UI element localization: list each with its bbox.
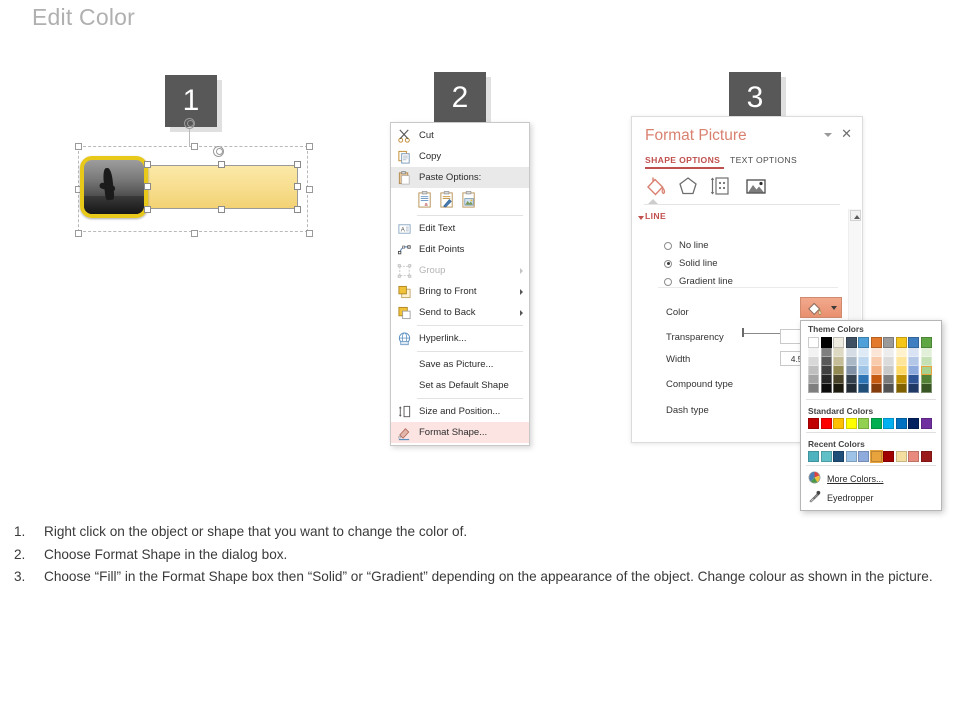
shape-handle[interactable]	[144, 183, 151, 190]
line-color-button[interactable]	[800, 297, 842, 318]
instruction-number: 2.	[14, 544, 44, 567]
theme-colors-grid[interactable]	[801, 336, 941, 396]
recent-color-swatch[interactable]	[883, 451, 894, 462]
format-pane-title: Format Picture	[645, 127, 747, 145]
radio-solid-line[interactable]: Solid line	[664, 258, 718, 269]
theme-color-shade-swatch[interactable]	[846, 366, 857, 375]
rotation-stem	[189, 128, 190, 147]
menu-item-label: Send to Back	[419, 307, 476, 318]
section-header-line[interactable]: LINE	[645, 211, 666, 221]
menu-item-label: Set as Default Shape	[419, 380, 509, 391]
hyperlink-icon	[397, 331, 412, 346]
scissors-icon	[397, 128, 412, 143]
theme-color-shade-swatch[interactable]	[871, 366, 882, 375]
menu-item-paste-options: Paste Options:	[391, 167, 529, 188]
theme-color-shade-swatch[interactable]	[858, 357, 869, 366]
radio-indicator	[664, 260, 672, 268]
divider	[658, 287, 838, 288]
instruction-item: 3. Choose “Fill” in the Format Shape box…	[14, 566, 944, 589]
theme-color-shade-swatch[interactable]	[808, 375, 819, 384]
menu-item-label: Paste Options:	[419, 172, 481, 183]
rotate-handle-outer-icon[interactable]	[184, 118, 195, 129]
format-shape-icon	[397, 425, 412, 440]
menu-item-bring-to-front[interactable]: Bring to Front	[391, 281, 529, 302]
menu-item-label: Copy	[419, 151, 441, 162]
size-properties-icon[interactable]	[708, 174, 732, 198]
standard-color-swatch[interactable]	[883, 418, 894, 429]
theme-color-shade-swatch[interactable]	[871, 375, 882, 384]
instruction-number: 1.	[14, 521, 44, 544]
recent-color-swatch[interactable]	[908, 451, 919, 462]
instruction-text: Choose “Fill” in the Format Shape box th…	[44, 566, 944, 589]
theme-color-swatch[interactable]	[846, 337, 857, 348]
eyedropper-icon	[808, 490, 821, 505]
theme-color-shade-swatch[interactable]	[846, 348, 857, 357]
radio-indicator	[664, 242, 672, 250]
standard-color-swatch[interactable]	[896, 418, 907, 429]
theme-color-shade-swatch[interactable]	[871, 384, 882, 393]
bring-to-front-icon	[397, 284, 412, 299]
standard-colors-heading: Standard Colors	[801, 403, 941, 418]
instruction-text: Choose Format Shape in the dialog box.	[44, 544, 944, 567]
theme-color-swatch[interactable]	[833, 337, 844, 348]
format-pane-icon-row[interactable]	[644, 174, 764, 200]
more-colors-icon	[808, 471, 821, 486]
theme-color-shade-swatch[interactable]	[858, 348, 869, 357]
shape-handle[interactable]	[294, 206, 301, 213]
recent-color-swatch[interactable]	[846, 451, 857, 462]
menu-item-label: Edit Text	[419, 223, 455, 234]
theme-color-column[interactable]	[896, 337, 907, 393]
theme-color-shade-swatch[interactable]	[896, 375, 907, 384]
theme-color-column[interactable]	[808, 337, 819, 393]
submenu-arrow-icon	[520, 268, 523, 274]
eyedropper-label: Eyedropper	[827, 493, 874, 503]
menu-item-label: Size and Position...	[419, 406, 500, 417]
menu-item-save-as-picture[interactable]: Save as Picture...	[391, 354, 529, 375]
shape-handle[interactable]	[294, 183, 301, 190]
theme-color-swatch[interactable]	[808, 337, 819, 348]
divider	[644, 204, 840, 205]
theme-color-shade-swatch[interactable]	[808, 348, 819, 357]
divider	[806, 465, 936, 466]
page-title: Edit Color	[32, 4, 135, 31]
theme-color-shade-swatch[interactable]	[821, 375, 832, 384]
recent-color-swatch[interactable]	[833, 451, 844, 462]
instruction-text: Right click on the object or shape that …	[44, 521, 944, 544]
paste-picture-icon[interactable]	[461, 191, 478, 209]
theme-color-shade-swatch[interactable]	[896, 357, 907, 366]
theme-color-shade-swatch[interactable]	[883, 366, 894, 375]
theme-color-shade-swatch[interactable]	[821, 366, 832, 375]
theme-color-shade-swatch[interactable]	[908, 366, 919, 375]
theme-color-column[interactable]	[833, 337, 844, 393]
label-width: Width	[666, 354, 690, 365]
recent-colors-heading: Recent Colors	[801, 436, 941, 451]
menu-item-edit-text[interactable]: A Edit Text	[391, 218, 529, 239]
selection-handle[interactable]	[306, 143, 313, 150]
divider	[806, 432, 936, 433]
theme-color-shade-swatch[interactable]	[858, 384, 869, 393]
copy-icon	[397, 149, 412, 164]
theme-color-column[interactable]	[921, 337, 932, 393]
theme-color-shade-swatch[interactable]	[846, 384, 857, 393]
step1-illustration	[70, 120, 320, 245]
menu-item-send-to-back[interactable]: Send to Back	[391, 302, 529, 323]
shape-handle[interactable]	[144, 206, 151, 213]
send-to-back-icon	[397, 305, 412, 320]
menu-item-edit-points[interactable]: Edit Points	[391, 239, 529, 260]
close-icon[interactable]: ✕	[841, 127, 852, 140]
theme-color-swatch[interactable]	[908, 337, 919, 348]
theme-color-shade-swatch[interactable]	[821, 357, 832, 366]
theme-color-swatch[interactable]	[921, 337, 932, 348]
label-dash-type: Dash type	[666, 405, 709, 416]
eyedropper-action[interactable]: Eyedropper	[801, 488, 941, 507]
divider	[806, 399, 936, 400]
theme-colors-heading: Theme Colors	[801, 321, 941, 336]
menu-item-label: Save as Picture...	[419, 359, 493, 370]
shape-handle[interactable]	[218, 206, 225, 213]
theme-color-shade-swatch[interactable]	[846, 375, 857, 384]
recent-color-swatch[interactable]	[821, 451, 832, 462]
menu-item-set-as-default-shape[interactable]: Set as Default Shape	[391, 375, 529, 396]
yellow-rounded-shape[interactable]	[143, 165, 298, 209]
theme-color-column[interactable]	[883, 337, 894, 393]
theme-color-shade-swatch[interactable]	[883, 348, 894, 357]
recent-color-swatch[interactable]	[921, 451, 932, 462]
theme-color-shade-swatch[interactable]	[821, 384, 832, 393]
theme-color-shade-swatch[interactable]	[808, 384, 819, 393]
theme-color-shade-swatch[interactable]	[896, 348, 907, 357]
selection-handle[interactable]	[191, 143, 198, 150]
step-badge-2: 2	[434, 72, 486, 124]
selection-handle[interactable]	[191, 230, 198, 237]
theme-color-column[interactable]	[858, 337, 869, 393]
chevron-down-icon[interactable]	[824, 133, 832, 137]
theme-color-swatch[interactable]	[896, 337, 907, 348]
theme-color-shade-swatch[interactable]	[833, 375, 844, 384]
instruction-item: 1. Right click on the object or shape th…	[14, 521, 944, 544]
standard-color-swatch[interactable]	[833, 418, 844, 429]
recent-color-swatch[interactable]	[896, 451, 907, 462]
radio-label: Solid line	[679, 258, 718, 269]
theme-color-shade-swatch[interactable]	[908, 357, 919, 366]
theme-color-shade-swatch[interactable]	[921, 366, 932, 375]
theme-color-shade-swatch[interactable]	[858, 366, 869, 375]
picture-thumbnail[interactable]	[80, 156, 148, 218]
theme-color-shade-swatch[interactable]	[808, 357, 819, 366]
theme-color-column[interactable]	[821, 337, 832, 393]
theme-color-column[interactable]	[871, 337, 882, 393]
more-colors-label: More Colors...	[827, 474, 884, 484]
theme-color-shade-swatch[interactable]	[833, 384, 844, 393]
theme-color-shade-swatch[interactable]	[883, 384, 894, 393]
theme-color-shade-swatch[interactable]	[921, 357, 932, 366]
radio-indicator	[664, 278, 672, 286]
menu-item-format-shape[interactable]: Format Shape...	[391, 422, 529, 443]
theme-color-shade-swatch[interactable]	[896, 366, 907, 375]
theme-color-shade-swatch[interactable]	[896, 384, 907, 393]
selection-handle[interactable]	[75, 230, 82, 237]
selection-handle[interactable]	[306, 230, 313, 237]
shape-handle[interactable]	[218, 161, 225, 168]
menu-item-hyperlink[interactable]: Hyperlink...	[391, 328, 529, 349]
theme-color-column[interactable]	[908, 337, 919, 393]
label-transparency: Transparency	[666, 332, 724, 343]
theme-color-shade-swatch[interactable]	[908, 375, 919, 384]
label-color: Color	[666, 307, 689, 318]
recent-colors-row[interactable]	[801, 451, 941, 462]
theme-color-shade-swatch[interactable]	[871, 348, 882, 357]
menu-item-label: Cut	[419, 130, 434, 141]
theme-color-shade-swatch[interactable]	[821, 348, 832, 357]
shape-handle[interactable]	[144, 161, 151, 168]
fill-bucket-small-icon	[805, 299, 827, 317]
theme-color-shade-swatch[interactable]	[858, 375, 869, 384]
paste-options-row[interactable]: a	[391, 188, 529, 213]
standard-color-swatch[interactable]	[808, 418, 819, 429]
theme-color-swatch[interactable]	[858, 337, 869, 348]
chevron-down-icon[interactable]	[831, 306, 837, 310]
theme-color-swatch[interactable]	[871, 337, 882, 348]
theme-color-shade-swatch[interactable]	[908, 384, 919, 393]
menu-item-label: Edit Points	[419, 244, 464, 255]
picture-icon[interactable]	[744, 174, 768, 198]
menu-item-label: Bring to Front	[419, 286, 477, 297]
menu-item-label: Hyperlink...	[419, 333, 467, 344]
recent-color-swatch[interactable]	[858, 451, 869, 462]
edit-points-icon	[397, 242, 412, 257]
edit-text-icon: A	[397, 221, 412, 236]
theme-color-shade-swatch[interactable]	[883, 375, 894, 384]
shape-handle[interactable]	[294, 161, 301, 168]
theme-color-shade-swatch[interactable]	[883, 357, 894, 366]
group-icon	[397, 263, 412, 278]
menu-item-label: Group	[419, 265, 445, 276]
active-tab-underline	[645, 167, 724, 169]
theme-color-column[interactable]	[846, 337, 857, 393]
menu-item-size-and-position[interactable]: Size and Position...	[391, 401, 529, 422]
standard-color-swatch[interactable]	[921, 418, 932, 429]
theme-color-shade-swatch[interactable]	[833, 366, 844, 375]
paste-icon	[397, 170, 412, 185]
menu-item-copy[interactable]: Copy	[391, 146, 529, 167]
theme-color-shade-swatch[interactable]	[908, 348, 919, 357]
label-compound-type: Compound type	[666, 379, 733, 390]
radio-label: Gradient line	[679, 276, 733, 287]
instructions-list: 1. Right click on the object or shape th…	[14, 521, 944, 589]
scroll-up-button[interactable]	[850, 210, 861, 221]
theme-color-swatch[interactable]	[821, 337, 832, 348]
menu-item-cut[interactable]: Cut	[391, 125, 529, 146]
instruction-number: 3.	[14, 566, 44, 589]
theme-color-shade-swatch[interactable]	[833, 348, 844, 357]
paste-keep-source-formatting-icon[interactable]: a	[417, 191, 434, 209]
standard-colors-row[interactable]	[801, 418, 941, 429]
radio-label: No line	[679, 240, 709, 251]
photo-ground	[84, 196, 144, 214]
selection-handle[interactable]	[306, 186, 313, 193]
recent-color-swatch[interactable]	[808, 451, 819, 462]
theme-color-shade-swatch[interactable]	[871, 357, 882, 366]
theme-color-shade-swatch[interactable]	[921, 348, 932, 357]
tab-text-options[interactable]: TEXT OPTIONS	[730, 155, 797, 165]
standard-color-swatch[interactable]	[871, 418, 882, 429]
theme-color-shade-swatch[interactable]	[808, 366, 819, 375]
standard-color-swatch[interactable]	[858, 418, 869, 429]
theme-color-shade-swatch[interactable]	[833, 357, 844, 366]
radio-no-line[interactable]: No line	[664, 240, 709, 251]
effects-pentagon-icon[interactable]	[676, 174, 700, 198]
theme-color-swatch[interactable]	[883, 337, 894, 348]
theme-color-shade-swatch[interactable]	[846, 357, 857, 366]
menu-item-label: Format Shape...	[419, 427, 487, 438]
menu-item-group: Group	[391, 260, 529, 281]
menu-separator	[417, 398, 523, 399]
standard-color-swatch[interactable]	[908, 418, 919, 429]
standard-color-swatch[interactable]	[821, 418, 832, 429]
menu-separator	[417, 325, 523, 326]
menu-separator	[417, 351, 523, 352]
context-menu[interactable]: Cut Copy Paste Options:	[390, 122, 530, 446]
theme-color-shade-swatch[interactable]	[921, 375, 932, 384]
size-position-icon	[397, 404, 412, 419]
more-colors-action[interactable]: More Colors...	[801, 469, 941, 488]
radio-gradient-line[interactable]: Gradient line	[664, 276, 733, 287]
recent-color-swatch[interactable]	[871, 451, 882, 462]
submenu-arrow-icon	[520, 289, 523, 295]
submenu-arrow-icon	[520, 310, 523, 316]
collapse-section-caret-icon[interactable]	[638, 216, 644, 220]
instruction-item: 2. Choose Format Shape in the dialog box…	[14, 544, 944, 567]
color-picker-dropdown[interactable]: Theme Colors Standard Colors Recent Colo…	[800, 320, 942, 511]
menu-separator	[417, 215, 523, 216]
fill-bucket-icon[interactable]	[644, 174, 668, 198]
theme-color-shade-swatch[interactable]	[921, 384, 932, 393]
selection-handle[interactable]	[75, 143, 82, 150]
tab-shape-options[interactable]: SHAPE OPTIONS	[645, 155, 720, 165]
paste-use-destination-theme-icon[interactable]	[439, 191, 456, 209]
standard-color-swatch[interactable]	[846, 418, 857, 429]
